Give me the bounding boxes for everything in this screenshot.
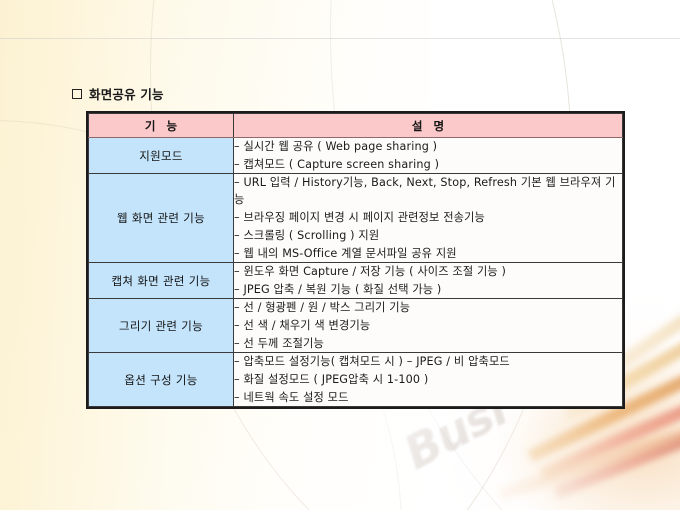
feature-table: 기 능 설 명 지원모드– 실시간 웹 공유 ( Web page sharin… — [88, 113, 623, 407]
background-horizontal-rule — [0, 38, 680, 39]
slide-canvas: ~ Ou Busi 화면공유 기능 기 능 설 명 — [0, 0, 680, 510]
table-header-description: 설 명 — [234, 114, 623, 138]
description-line: – 웹 내의 MS-Office 계열 문서파일 공유 지원 — [234, 245, 622, 262]
square-outline-icon — [72, 89, 82, 99]
table-cell-function: 웹 화면 관련 기능 — [89, 174, 234, 263]
description-line: – 브라우징 페이지 변경 시 페이지 관련정보 전송기능 — [234, 209, 622, 226]
description-line: – 압축모드 설정기능( 캡쳐모드 시 ) – JPEG / 비 압축모드 — [234, 353, 622, 370]
table-cell-function: 그리기 관련 기능 — [89, 299, 234, 353]
pencil-shape — [554, 423, 680, 499]
table-row: 옵션 구성 기능– 압축모드 설정기능( 캡쳐모드 시 ) – JPEG / 비… — [89, 353, 623, 407]
table-cell-description: – 실시간 웹 공유 ( Web page sharing )– 캡쳐모드 ( … — [234, 138, 623, 174]
description-line: – 캡쳐모드 ( Capture screen sharing ) — [234, 156, 622, 173]
table-header-row: 기 능 설 명 — [89, 114, 623, 138]
description-line: – 화질 설정모드 ( JPEG압축 시 1-100 ) — [234, 371, 622, 388]
table-cell-description: – 선 / 형광펜 / 원 / 박스 그리기 기능– 선 색 / 채우기 색 변… — [234, 299, 623, 353]
pencil-shape — [498, 427, 680, 501]
table-row: 캡쳐 화면 관련 기능– 윈도우 화면 Capture / 저장 기능 ( 사이… — [89, 263, 623, 299]
description-line: – 윈도우 화면 Capture / 저장 기능 ( 사이즈 조절 기능 ) — [234, 263, 622, 280]
description-line: – 선 / 형광펜 / 원 / 박스 그리기 기능 — [234, 299, 622, 316]
description-line: – JPEG 압축 / 복원 기능 ( 화질 선택 가능 ) — [234, 281, 622, 298]
page-title-text: 화면공유 기능 — [89, 84, 164, 103]
description-line: – 스크롤링 ( Scrolling ) 지원 — [234, 227, 622, 244]
feature-table-container: 기 능 설 명 지원모드– 실시간 웹 공유 ( Web page sharin… — [86, 111, 625, 409]
table-cell-function: 지원모드 — [89, 138, 234, 174]
description-line: – 선 두께 조절기능 — [234, 335, 622, 352]
description-line: – 선 색 / 채우기 색 변경기능 — [234, 317, 622, 334]
table-cell-function: 옵션 구성 기능 — [89, 353, 234, 407]
table-cell-description: – 압축모드 설정기능( 캡쳐모드 시 ) – JPEG / 비 압축모드– 화… — [234, 353, 623, 407]
table-row: 웹 화면 관련 기능– URL 입력 / History기능, Back, Ne… — [89, 174, 623, 263]
table-cell-description: – URL 입력 / History기능, Back, Next, Stop, … — [234, 174, 623, 263]
table-body: 지원모드– 실시간 웹 공유 ( Web page sharing )– 캡쳐모… — [89, 138, 623, 407]
description-line: – 실시간 웹 공유 ( Web page sharing ) — [234, 138, 622, 155]
table-header-function-label: 기 능 — [141, 118, 180, 134]
description-line: – URL 입력 / History기능, Back, Next, Stop, … — [234, 174, 622, 208]
table-cell-function: 캡쳐 화면 관련 기능 — [89, 263, 234, 299]
table-header: 기 능 설 명 — [89, 114, 623, 138]
page-title: 화면공유 기능 — [72, 84, 164, 103]
table-row: 지원모드– 실시간 웹 공유 ( Web page sharing )– 캡쳐모… — [89, 138, 623, 174]
table-header-description-label: 설 명 — [408, 118, 447, 134]
table-row: 그리기 관련 기능– 선 / 형광펜 / 원 / 박스 그리기 기능– 선 색 … — [89, 299, 623, 353]
table-header-function: 기 능 — [89, 114, 234, 138]
table-cell-description: – 윈도우 화면 Capture / 저장 기능 ( 사이즈 조절 기능 )– … — [234, 263, 623, 299]
description-line: – 네트웍 속도 설정 모드 — [234, 389, 622, 406]
